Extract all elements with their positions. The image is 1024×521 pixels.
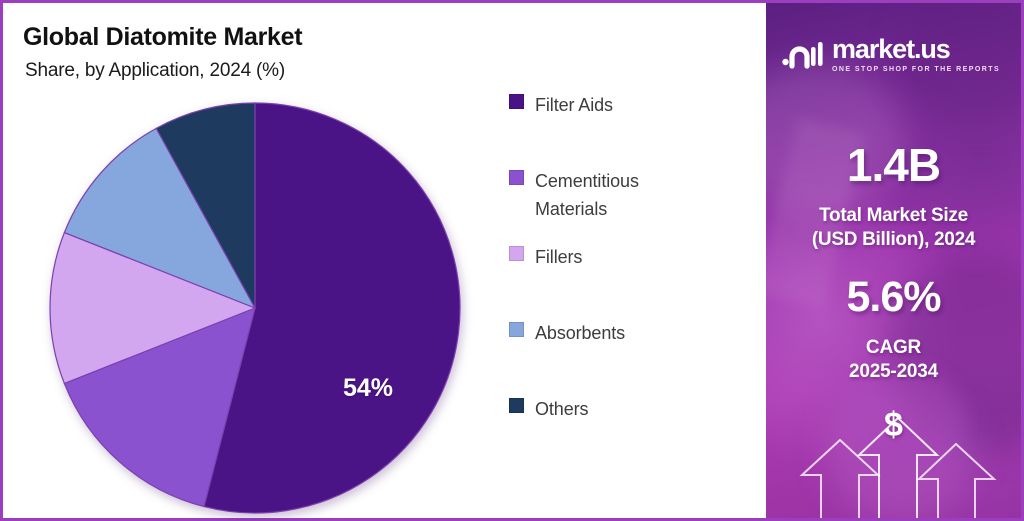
chart-panel: Global Diatomite Market Share, by Applic… <box>3 3 763 518</box>
growth-arrows-icon <box>766 413 1021 518</box>
market-us-logo-icon <box>782 39 823 69</box>
legend-item-filter-aids[interactable]: Filter Aids <box>509 91 759 119</box>
pie-slice-label-filter-aids: 54% <box>343 374 393 403</box>
legend-label-fillers: Fillers <box>535 243 582 271</box>
legend-item-absorbents[interactable]: Absorbents <box>509 319 759 347</box>
legend-swatch-others <box>509 398 524 413</box>
market-size-caption-line1: Total Market Size <box>766 205 1021 227</box>
market-size-value: 1.4B <box>766 138 1021 192</box>
legend-swatch-cementitious-materials <box>509 170 524 185</box>
stats-panel: market.us ONE STOP SHOP FOR THE REPORTS … <box>766 3 1021 518</box>
legend-label-others: Others <box>535 395 588 423</box>
page-subtitle: Share, by Application, 2024 (%) <box>25 60 285 82</box>
legend-label-cementitious-materials: Cementitious <box>535 167 639 195</box>
legend-item-cementitious-materials[interactable]: Cementitious Materials <box>509 167 759 223</box>
legend-swatch-absorbents <box>509 322 524 337</box>
legend-label-filter-aids: Filter Aids <box>535 91 613 119</box>
legend-swatch-filter-aids <box>509 94 524 109</box>
brand-text: market.us ONE STOP SHOP FOR THE REPORTS <box>832 36 1000 73</box>
brand-tagline: ONE STOP SHOP FOR THE REPORTS <box>832 66 1000 73</box>
market-size-caption-line2: (USD Billion), 2024 <box>766 229 1021 251</box>
legend-label-absorbents: Absorbents <box>535 319 625 347</box>
brand-logo[interactable]: market.us ONE STOP SHOP FOR THE REPORTS <box>782 33 1007 75</box>
infographic-page: Global Diatomite Market Share, by Applic… <box>0 0 1024 521</box>
brand-name: market.us <box>832 36 1000 63</box>
cagr-caption-line1: CAGR <box>766 337 1021 359</box>
legend-swatch-fillers <box>509 246 524 261</box>
page-title: Global Diatomite Market <box>23 23 302 52</box>
cagr-caption-line2: 2025-2034 <box>766 361 1021 383</box>
cagr-value: 5.6% <box>766 273 1021 322</box>
pie-chart: 54% <box>47 100 463 516</box>
pie-chart-svg <box>47 100 463 516</box>
legend-item-others[interactable]: Others <box>509 395 759 423</box>
legend-label-cementitious-materials-line2: Materials <box>509 195 759 223</box>
legend-item-fillers[interactable]: Fillers <box>509 243 759 271</box>
